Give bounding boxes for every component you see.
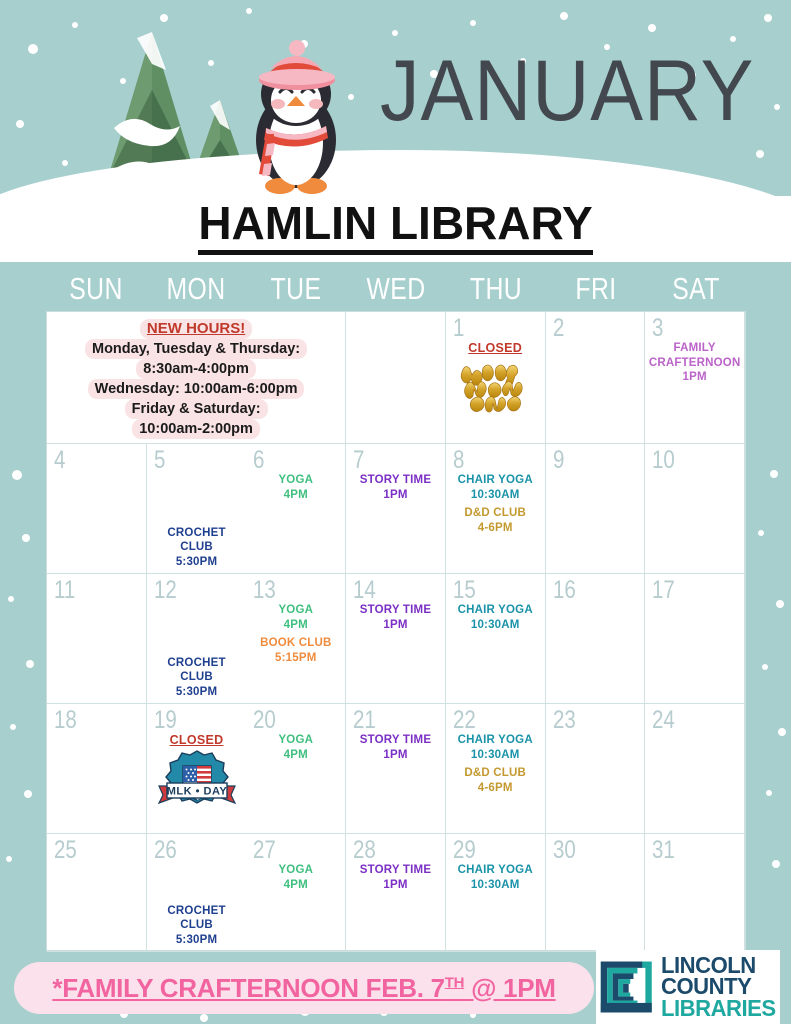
calendar-day-cell-3[interactable]: 3FAMILY CRAFTERNOON1PM <box>645 312 745 444</box>
event-item[interactable]: STORY TIME1PM <box>349 603 442 632</box>
calendar-day-cell-2[interactable]: 2 <box>546 312 646 444</box>
calendar-day-cell-19[interactable]: 19CLOSEDMLK • DAY <box>147 704 247 834</box>
snow-dot <box>776 600 784 608</box>
calendar-day-cell-20[interactable]: 20YOGA4PM <box>246 704 346 834</box>
event-time: 4PM <box>249 488 342 503</box>
day-events <box>549 863 642 947</box>
event-time: 1PM <box>349 488 442 503</box>
day-number: 11 <box>54 576 75 604</box>
event-item[interactable]: CROCHET CLUB5:30PM <box>150 526 244 570</box>
day-number: 3 <box>652 314 663 342</box>
day-number: 5 <box>154 446 165 474</box>
day-number: 22 <box>453 706 476 734</box>
event-name: STORY TIME <box>349 473 442 488</box>
happy-new-year-balloon-icon <box>456 356 534 418</box>
calendar-day-cell-11[interactable]: 11 <box>47 574 147 704</box>
weekday-label-sat: SAT <box>656 272 736 308</box>
calendar-day-cell-30[interactable]: 30 <box>546 834 646 952</box>
day-number: 24 <box>652 706 675 734</box>
day-events: CROCHET CLUB5:30PM <box>150 603 244 699</box>
closed-label: CLOSED <box>449 341 542 356</box>
event-item[interactable]: D&D CLUB4-6PM <box>449 506 542 535</box>
event-name: YOGA <box>249 473 342 488</box>
event-item[interactable]: CHAIR YOGA10:30AM <box>449 863 542 892</box>
day-number: 29 <box>453 836 476 864</box>
weekday-label-thu: THU <box>456 272 536 308</box>
day-events: CHAIR YOGA10:30AMD&D CLUB4-6PM <box>449 473 542 569</box>
day-number: 7 <box>353 446 364 474</box>
event-name: CHAIR YOGA <box>449 473 542 488</box>
new-hours-line-3: Friday & Saturday: <box>125 399 268 419</box>
event-name: D&D CLUB <box>449 506 542 521</box>
day-events: CROCHET CLUB5:30PM <box>150 863 244 947</box>
calendar-day-cell-18[interactable]: 18 <box>47 704 147 834</box>
day-number: 6 <box>253 446 264 474</box>
day-number: 18 <box>54 706 77 734</box>
event-time: 1PM <box>349 618 442 633</box>
logo-line-libraries: LIBRARIES <box>661 998 776 1020</box>
day-events: CHAIR YOGA10:30AM <box>449 863 542 947</box>
event-item[interactable]: STORY TIME1PM <box>349 473 442 502</box>
day-number: 4 <box>54 446 65 474</box>
event-item[interactable]: STORY TIME1PM <box>349 863 442 892</box>
day-number: 26 <box>154 836 177 864</box>
event-name: FAMILY CRAFTERNOON <box>648 341 741 370</box>
event-item[interactable]: YOGA4PM <box>249 603 342 632</box>
snow-dot <box>770 470 778 478</box>
day-events: FAMILY CRAFTERNOON1PM <box>648 341 741 439</box>
day-events: CHAIR YOGA10:30AMD&D CLUB4-6PM <box>449 733 542 829</box>
event-name: CROCHET CLUB <box>150 904 244 933</box>
calendar-day-cell-8[interactable]: 8CHAIR YOGA10:30AMD&D CLUB4-6PM <box>446 444 546 574</box>
event-time: 5:30PM <box>150 555 244 570</box>
day-number: 20 <box>253 706 276 734</box>
event-time: 1PM <box>648 370 741 385</box>
weekday-label-tue: TUE <box>256 272 336 308</box>
calendar-day-cell-29[interactable]: 29CHAIR YOGA10:30AM <box>446 834 546 952</box>
event-time: 10:30AM <box>449 618 542 633</box>
calendar-day-cell-28[interactable]: 28STORY TIME1PM <box>346 834 446 952</box>
day-events <box>648 603 741 699</box>
event-name: STORY TIME <box>349 863 442 878</box>
calendar-day-cell-31[interactable]: 31 <box>645 834 745 952</box>
day-number: 28 <box>353 836 376 864</box>
weekday-label-fri: FRI <box>556 272 636 308</box>
day-events: STORY TIME1PM <box>349 863 442 947</box>
calendar-day-cell-9[interactable]: 9 <box>546 444 646 574</box>
snow-dot <box>758 530 764 536</box>
calendar-day-cell-27[interactable]: 27YOGA4PM <box>246 834 346 952</box>
day-number: 21 <box>353 706 376 734</box>
day-number: 17 <box>652 576 675 604</box>
event-name: CROCHET CLUB <box>150 656 244 685</box>
calendar-day-cell-4[interactable]: 4 <box>47 444 147 574</box>
event-name: BOOK CLUB <box>249 636 342 651</box>
day-events: YOGA4PM <box>249 473 342 569</box>
weekday-label-sun: SUN <box>56 272 136 308</box>
event-item[interactable]: YOGA4PM <box>249 733 342 762</box>
day-events: CHAIR YOGA10:30AM <box>449 603 542 699</box>
penguin-icon <box>240 36 352 196</box>
event-time: 4PM <box>249 878 342 893</box>
day-events: YOGA4PM <box>249 863 342 947</box>
day-number: 9 <box>553 446 564 474</box>
calendar-day-cell-23[interactable]: 23 <box>546 704 646 834</box>
event-name: YOGA <box>249 603 342 618</box>
day-events: CLOSED <box>449 341 542 439</box>
weekday-header-row: SUNMONTUEWEDTHUFRISAT <box>46 272 746 308</box>
day-number: 15 <box>453 576 476 604</box>
day-number: 2 <box>553 314 564 342</box>
calendar-day-cell-24[interactable]: 24 <box>645 704 745 834</box>
page-title-library: HAMLIN LIBRARY <box>0 200 791 255</box>
day-number: 23 <box>553 706 576 734</box>
event-item[interactable]: STORY TIME1PM <box>349 733 442 762</box>
event-name: CHAIR YOGA <box>449 603 542 618</box>
event-name: D&D CLUB <box>449 766 542 781</box>
day-events: STORY TIME1PM <box>349 473 442 569</box>
weekday-label-wed: WED <box>356 272 436 308</box>
new-hours-cell: NEW HOURS!Monday, Tuesday & Thursday:8:3… <box>47 312 346 444</box>
snow-dot <box>200 1014 208 1022</box>
event-name: CHAIR YOGA <box>449 863 542 878</box>
new-hours-block: NEW HOURS!Monday, Tuesday & Thursday:8:3… <box>47 312 345 443</box>
day-number: 13 <box>253 576 276 604</box>
event-time: 5:30PM <box>150 685 244 700</box>
event-time: 5:15PM <box>249 651 342 666</box>
calendar-day-cell-17[interactable]: 17 <box>645 574 745 704</box>
event-time: 5:30PM <box>150 933 244 948</box>
new-hours-heading: NEW HOURS! <box>140 319 252 339</box>
event-item[interactable]: BOOK CLUB5:15PM <box>249 636 342 665</box>
day-events <box>549 341 642 439</box>
snow-dot <box>778 728 786 736</box>
event-name: YOGA <box>249 733 342 748</box>
calendar-day-cell-25[interactable]: 25 <box>47 834 147 952</box>
calendar-day-cell-7[interactable]: 7STORY TIME1PM <box>346 444 446 574</box>
day-number: 19 <box>154 706 177 734</box>
day-events: CROCHET CLUB5:30PM <box>150 473 244 569</box>
day-number: 16 <box>553 576 576 604</box>
new-hours-line-0: Monday, Tuesday & Thursday: <box>85 339 307 359</box>
event-time: 4-6PM <box>449 781 542 796</box>
event-item[interactable]: D&D CLUB4-6PM <box>449 766 542 795</box>
new-hours-line-2: Wednesday: 10:00am-6:00pm <box>88 379 305 399</box>
snow-dot <box>766 790 772 796</box>
event-time: 1PM <box>349 748 442 763</box>
banner-ordinal: TH <box>445 974 464 991</box>
event-time: 10:30AM <box>449 878 542 893</box>
day-number: 12 <box>154 576 177 604</box>
day-number: 31 <box>652 836 675 864</box>
event-item[interactable]: CHAIR YOGA10:30AM <box>449 473 542 502</box>
svg-text:MLK • DAY: MLK • DAY <box>166 785 227 797</box>
snow-dot <box>762 664 768 670</box>
event-name: CROCHET CLUB <box>150 526 244 555</box>
closed-label: CLOSED <box>150 733 244 748</box>
footer-banner-text: *FAMILY CRAFTERNOON FEB. 7TH @ 1PM <box>52 973 555 1004</box>
library-name-text: HAMLIN LIBRARY <box>198 200 592 255</box>
lincoln-county-libraries-logo: LINCOLN COUNTY LIBRARIES <box>596 950 780 1024</box>
day-events <box>50 863 143 947</box>
event-item[interactable]: CROCHET CLUB5:30PM <box>150 904 244 948</box>
calendar-day-cell-10[interactable]: 10 <box>645 444 745 574</box>
snow-dot <box>8 596 14 602</box>
calendar-day-cell-empty <box>346 312 446 444</box>
day-events <box>648 733 741 829</box>
day-number: 25 <box>54 836 77 864</box>
day-number: 14 <box>353 576 376 604</box>
banner-suffix: @ 1PM <box>464 973 555 1003</box>
day-events <box>648 863 741 947</box>
day-events: CLOSEDMLK • DAY <box>150 733 244 829</box>
calendar-day-cell-5[interactable]: 5CROCHET CLUB5:30PM <box>147 444 247 574</box>
snow-dot <box>24 790 32 798</box>
event-name: CHAIR YOGA <box>449 733 542 748</box>
day-number: 1 <box>453 314 464 342</box>
day-events <box>50 603 143 699</box>
calendar-day-cell-1[interactable]: 1CLOSED <box>446 312 546 444</box>
calendar-day-cell-15[interactable]: 15CHAIR YOGA10:30AM <box>446 574 546 704</box>
event-item[interactable]: CROCHET CLUB5:30PM <box>150 656 244 700</box>
calendar-day-cell-22[interactable]: 22CHAIR YOGA10:30AMD&D CLUB4-6PM <box>446 704 546 834</box>
page-title-month: JANUARY <box>380 48 754 134</box>
day-events <box>648 473 741 569</box>
calendar-day-cell-21[interactable]: 21STORY TIME1PM <box>346 704 446 834</box>
event-time: 10:30AM <box>449 488 542 503</box>
day-events <box>50 473 143 569</box>
mlk-day-badge-icon: MLK • DAY <box>157 748 237 810</box>
day-events <box>549 473 642 569</box>
day-events: YOGA4PMBOOK CLUB5:15PM <box>249 603 342 699</box>
day-number: 8 <box>453 446 464 474</box>
day-events <box>549 733 642 829</box>
snow-dot <box>772 860 780 868</box>
weekday-label-mon: MON <box>156 272 236 308</box>
snow-dot <box>26 660 34 668</box>
calendar-day-cell-6[interactable]: 6YOGA4PM <box>246 444 346 574</box>
day-events <box>50 733 143 829</box>
day-number: 27 <box>253 836 276 864</box>
new-hours-line-4: 10:00am-2:00pm <box>132 419 260 439</box>
footer-banner: *FAMILY CRAFTERNOON FEB. 7TH @ 1PM <box>14 962 594 1014</box>
event-item[interactable]: FAMILY CRAFTERNOON1PM <box>648 341 741 385</box>
event-time: 4PM <box>249 748 342 763</box>
event-name: YOGA <box>249 863 342 878</box>
calendar-day-cell-13[interactable]: 13YOGA4PMBOOK CLUB5:15PM <box>246 574 346 704</box>
event-name: STORY TIME <box>349 733 442 748</box>
day-number: 30 <box>553 836 576 864</box>
event-time: 1PM <box>349 878 442 893</box>
event-name: STORY TIME <box>349 603 442 618</box>
day-events: YOGA4PM <box>249 733 342 829</box>
event-item[interactable]: CHAIR YOGA10:30AM <box>449 603 542 632</box>
banner-prefix: *FAMILY CRAFTERNOON FEB. 7 <box>52 973 444 1003</box>
day-events: STORY TIME1PM <box>349 733 442 829</box>
snow-dot <box>22 534 30 542</box>
day-events: STORY TIME1PM <box>349 603 442 699</box>
event-time: 10:30AM <box>449 748 542 763</box>
event-time: 4-6PM <box>449 521 542 536</box>
event-item[interactable]: YOGA4PM <box>249 863 342 892</box>
event-item[interactable]: CHAIR YOGA10:30AM <box>449 733 542 762</box>
day-number: 10 <box>652 446 675 474</box>
snow-dot <box>6 856 12 862</box>
day-events <box>549 603 642 699</box>
calendar-day-cell-26[interactable]: 26CROCHET CLUB5:30PM <box>147 834 247 952</box>
calendar-day-cell-14[interactable]: 14STORY TIME1PM <box>346 574 446 704</box>
snow-dot <box>10 724 16 730</box>
calendar-grid: NEW HOURS!Monday, Tuesday & Thursday:8:3… <box>46 311 746 951</box>
calendar-day-cell-12[interactable]: 12CROCHET CLUB5:30PM <box>147 574 247 704</box>
event-item[interactable]: YOGA4PM <box>249 473 342 502</box>
event-time: 4PM <box>249 618 342 633</box>
snow-dot <box>12 470 22 480</box>
library-spiral-mark-icon <box>600 954 653 1020</box>
new-hours-line-1: 8:30am-4:00pm <box>136 359 256 379</box>
calendar-day-cell-16[interactable]: 16 <box>546 574 646 704</box>
